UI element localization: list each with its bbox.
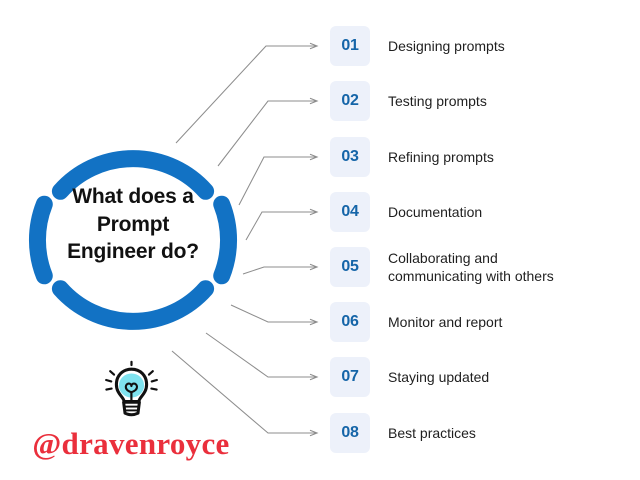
- step-badge: 07: [330, 357, 370, 397]
- brand-handle: @dravenroyce: [0, 428, 262, 459]
- step-label: Documentation: [388, 203, 482, 221]
- list-item[interactable]: 03 Refining prompts: [330, 137, 494, 177]
- list-item[interactable]: 04 Documentation: [330, 192, 482, 232]
- connector-3: [239, 157, 317, 205]
- ring-segment-right: [222, 204, 229, 276]
- center-title-line-3: Engineer do?: [48, 238, 218, 266]
- step-badge: 08: [330, 413, 370, 453]
- step-label: Designing prompts: [388, 37, 505, 55]
- step-label: Monitor and report: [388, 313, 502, 331]
- step-badge: 01: [330, 26, 370, 66]
- step-label: Testing prompts: [388, 92, 487, 110]
- step-badge: 06: [330, 302, 370, 342]
- center-title-line-1: What does a: [48, 183, 218, 211]
- list-item[interactable]: 05 Collaborating and communicating with …: [330, 247, 554, 287]
- step-badge: 03: [330, 137, 370, 177]
- center-title: What does a Prompt Engineer do?: [48, 183, 218, 266]
- connector-4: [246, 212, 317, 240]
- center-title-line-2: Prompt: [48, 211, 218, 239]
- list-item[interactable]: 06 Monitor and report: [330, 302, 502, 342]
- brand-watermark: @dravenroyce: [0, 360, 262, 459]
- list-item[interactable]: 07 Staying updated: [330, 357, 489, 397]
- step-badge: 05: [330, 247, 370, 287]
- ring-segment-left: [37, 204, 44, 276]
- step-label: Refining prompts: [388, 148, 494, 166]
- connector-5: [243, 267, 317, 274]
- center-ring: What does a Prompt Engineer do?: [18, 125, 248, 355]
- infographic-canvas: What does a Prompt Engineer do? 01 Desig…: [0, 0, 640, 480]
- list-item[interactable]: 01 Designing prompts: [330, 26, 505, 66]
- list-item[interactable]: 02 Testing prompts: [330, 81, 487, 121]
- step-label: Best practices: [388, 424, 476, 442]
- step-label: Collaborating and communicating with oth…: [388, 249, 554, 286]
- step-badge: 04: [330, 192, 370, 232]
- step-label: Staying updated: [388, 368, 489, 386]
- step-badge: 02: [330, 81, 370, 121]
- list-item[interactable]: 08 Best practices: [330, 413, 476, 453]
- ring-segment-bottom: [60, 289, 205, 322]
- lightbulb-icon: [98, 360, 164, 426]
